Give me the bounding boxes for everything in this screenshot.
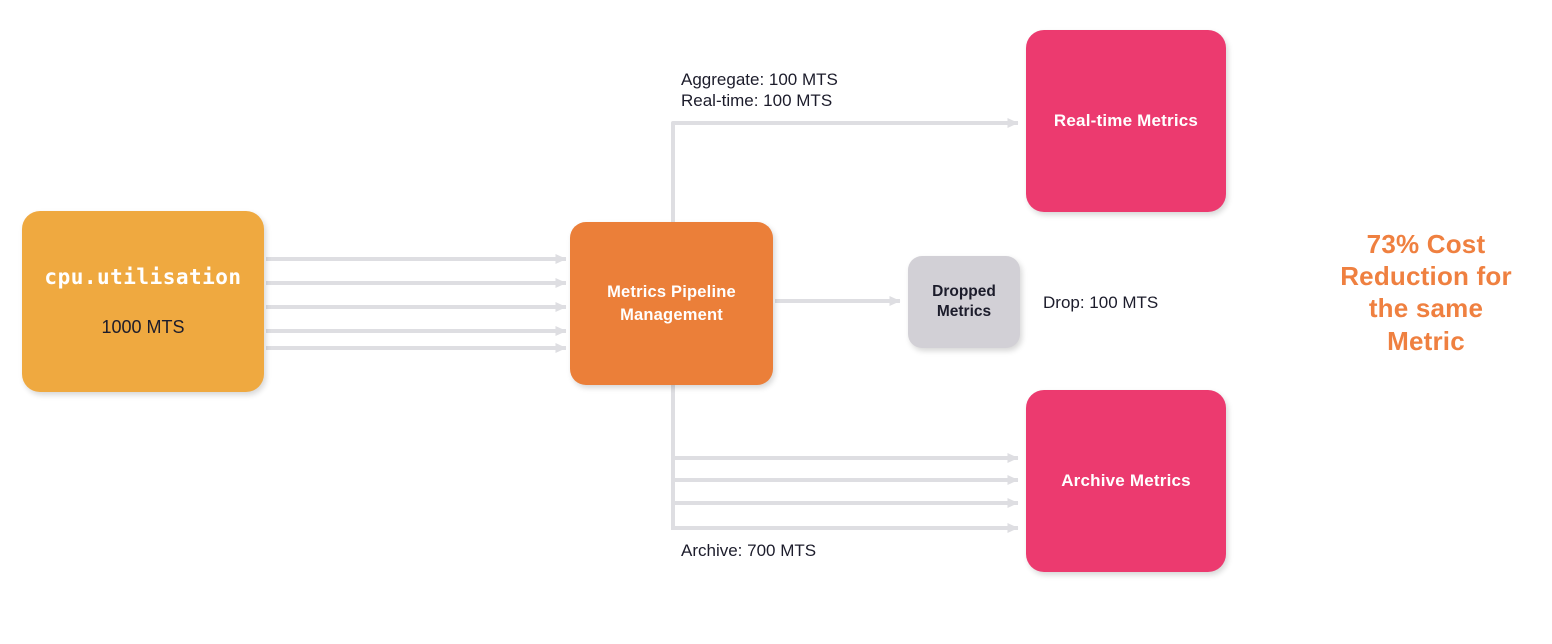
node-cpu-utilisation[interactable]: cpu.utilisation 1000 MTS: [22, 211, 264, 392]
edge-pipeline-to-realtime: [673, 123, 1018, 222]
node-real-time-metrics[interactable]: Real-time Metrics: [1026, 30, 1226, 212]
node-archive-metrics[interactable]: Archive Metrics: [1026, 390, 1226, 572]
edge-pipeline-to-archive: [673, 385, 1018, 530]
source-metric-count: 1000 MTS: [101, 317, 184, 338]
source-metric-name: cpu.utilisation: [44, 265, 241, 289]
edge-label-drop: Drop: 100 MTS: [1043, 292, 1158, 313]
pipeline-label: Metrics Pipeline Management: [607, 281, 736, 326]
edges-source-to-pipeline: [266, 259, 566, 348]
archive-metrics-label: Archive Metrics: [1061, 471, 1191, 491]
node-metrics-pipeline-management[interactable]: Metrics Pipeline Management: [570, 222, 773, 385]
diagram-canvas: cpu.utilisation 1000 MTS Metrics Pipelin…: [0, 0, 1552, 644]
edge-label-archive: Archive: 700 MTS: [681, 540, 816, 561]
cost-reduction-callout: 73% Cost Reduction for the same Metric: [1300, 228, 1552, 357]
dropped-metrics-label: Dropped Metrics: [932, 282, 996, 322]
edge-label-aggregate-realtime: Aggregate: 100 MTS Real-time: 100 MTS: [681, 69, 838, 112]
real-time-metrics-label: Real-time Metrics: [1054, 111, 1198, 131]
node-dropped-metrics[interactable]: Dropped Metrics: [908, 256, 1020, 348]
